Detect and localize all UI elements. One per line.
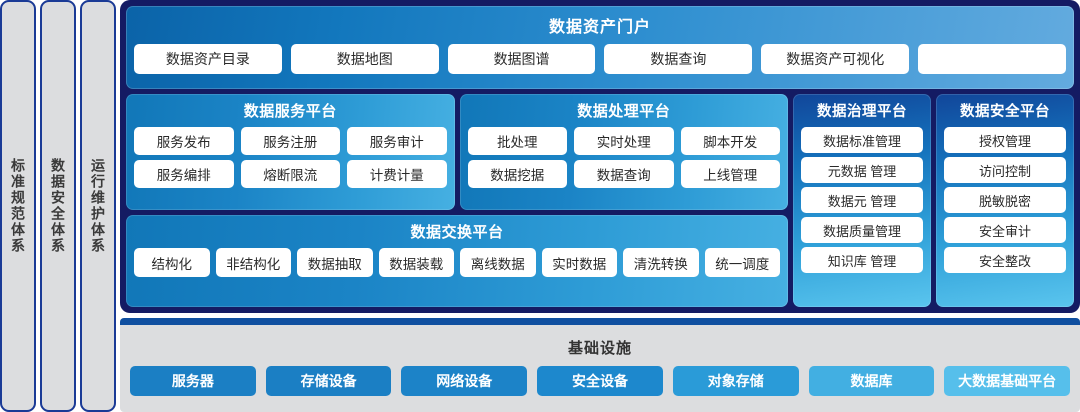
processing-item-release-mgmt[interactable]: 上线管理 (681, 160, 781, 188)
service-item-billing[interactable]: 计费计量 (347, 160, 447, 188)
side-rail-standards-label: 标准规范体系 (11, 158, 25, 254)
exchange-item-structured[interactable]: 结构化 (134, 248, 210, 277)
infra-item-network[interactable]: 网络设备 (401, 366, 527, 396)
exchange-item-realtime-data[interactable]: 实时数据 (542, 248, 618, 277)
data-processing-platform: 数据处理平台 批处理 实时处理 脚本开发 数据挖据 数据查询 上线管理 (460, 94, 789, 210)
portal-item-map[interactable]: 数据地图 (291, 44, 439, 74)
security-item-audit[interactable]: 安全审计 (944, 217, 1066, 243)
portal-title: 数据资产门户 (549, 13, 651, 37)
processing-item-batch[interactable]: 批处理 (468, 127, 568, 155)
processing-item-realtime[interactable]: 实时处理 (574, 127, 674, 155)
portal-item-query[interactable]: 数据查询 (604, 44, 752, 74)
main-column: 数据资产门户 数据资产目录 数据地图 数据图谱 数据查询 数据资产可视化 (120, 0, 1080, 412)
infra-item-database[interactable]: 数据库 (809, 366, 935, 396)
architecture-diagram: 标准规范体系 数据安全体系 运行维护体系 数据资产门户 数据资产目录 数据地图 … (0, 0, 1080, 412)
platform-frame: 数据资产门户 数据资产目录 数据地图 数据图谱 数据查询 数据资产可视化 (120, 0, 1080, 313)
exchange-item-offline-data[interactable]: 离线数据 (460, 248, 536, 277)
infrastructure-items: 服务器 存储设备 网络设备 安全设备 对象存储 数据库 大数据基础平台 (130, 366, 1070, 396)
governance-item-metadata[interactable]: 元数据 管理 (801, 157, 923, 183)
processing-item-mining[interactable]: 数据挖据 (468, 160, 568, 188)
infrastructure-title: 基础设施 (568, 337, 632, 358)
data-service-platform-items: 服务发布 服务注册 服务审计 服务编排 熔断限流 计费计量 (134, 127, 447, 188)
portal-item-empty[interactable] (918, 44, 1066, 74)
data-service-platform-title: 数据服务平台 (244, 100, 337, 121)
processing-item-script-dev[interactable]: 脚本开发 (681, 127, 781, 155)
governance-item-standards[interactable]: 数据标准管理 (801, 127, 923, 153)
governance-item-data-element[interactable]: 数据元 管理 (801, 187, 923, 213)
data-security-platform: 数据安全平台 授权管理 访问控制 脱敏脱密 安全审计 安全整改 (936, 94, 1074, 307)
governance-item-quality[interactable]: 数据质量管理 (801, 217, 923, 243)
service-item-audit[interactable]: 服务审计 (347, 127, 447, 155)
data-processing-platform-title: 数据处理平台 (577, 100, 670, 121)
infrastructure-panel: 基础设施 服务器 存储设备 网络设备 安全设备 对象存储 数据库 大数据基础平台 (120, 318, 1080, 412)
left-platform-stack: 数据服务平台 服务发布 服务注册 服务审计 服务编排 熔断限流 计费计量 (126, 94, 788, 307)
data-exchange-platform-title: 数据交换平台 (410, 221, 503, 242)
exchange-item-cleansing[interactable]: 清洗转换 (623, 248, 699, 277)
data-asset-portal: 数据资产门户 数据资产目录 数据地图 数据图谱 数据查询 数据资产可视化 (126, 6, 1074, 89)
portal-item-graph[interactable]: 数据图谱 (448, 44, 596, 74)
side-rail-standards[interactable]: 标准规范体系 (0, 0, 36, 412)
security-item-rectification[interactable]: 安全整改 (944, 247, 1066, 273)
infra-item-bigdata-platform[interactable]: 大数据基础平台 (944, 366, 1070, 396)
upper-platform-pair: 数据服务平台 服务发布 服务注册 服务审计 服务编排 熔断限流 计费计量 (126, 94, 788, 210)
security-item-access-control[interactable]: 访问控制 (944, 157, 1066, 183)
data-exchange-platform-items: 结构化 非结构化 数据抽取 数据装载 离线数据 实时数据 清洗转换 统一调度 (134, 248, 780, 277)
portal-item-visualization[interactable]: 数据资产可视化 (761, 44, 909, 74)
data-security-platform-items: 授权管理 访问控制 脱敏脱密 安全审计 安全整改 (944, 127, 1066, 273)
side-rail-data-security[interactable]: 数据安全体系 (40, 0, 76, 412)
service-item-publish[interactable]: 服务发布 (134, 127, 234, 155)
security-item-masking[interactable]: 脱敏脱密 (944, 187, 1066, 213)
infra-item-server[interactable]: 服务器 (130, 366, 256, 396)
exchange-item-load[interactable]: 数据装载 (379, 248, 455, 277)
data-governance-platform: 数据治理平台 数据标准管理 元数据 管理 数据元 管理 数据质量管理 知识库 管… (793, 94, 931, 307)
exchange-item-unstructured[interactable]: 非结构化 (216, 248, 292, 277)
portal-button-row: 数据资产目录 数据地图 数据图谱 数据查询 数据资产可视化 (134, 44, 1066, 74)
data-governance-platform-title: 数据治理平台 (817, 100, 907, 121)
service-item-circuit-breaker[interactable]: 熔断限流 (241, 160, 341, 188)
side-rail-data-security-label: 数据安全体系 (51, 158, 65, 254)
service-item-orchestration[interactable]: 服务编排 (134, 160, 234, 188)
infra-item-security-device[interactable]: 安全设备 (537, 366, 663, 396)
side-rail-operations[interactable]: 运行维护体系 (80, 0, 116, 412)
portal-item-catalog[interactable]: 数据资产目录 (134, 44, 282, 74)
data-exchange-platform: 数据交换平台 结构化 非结构化 数据抽取 数据装载 离线数据 实时数据 清洗转换… (126, 215, 788, 307)
data-security-platform-title: 数据安全平台 (960, 100, 1050, 121)
service-item-register[interactable]: 服务注册 (241, 127, 341, 155)
governance-item-knowledge-base[interactable]: 知识库 管理 (801, 247, 923, 273)
exchange-item-extract[interactable]: 数据抽取 (297, 248, 373, 277)
data-service-platform: 数据服务平台 服务发布 服务注册 服务审计 服务编排 熔断限流 计费计量 (126, 94, 455, 210)
infra-item-storage[interactable]: 存储设备 (266, 366, 392, 396)
data-governance-platform-items: 数据标准管理 元数据 管理 数据元 管理 数据质量管理 知识库 管理 (801, 127, 923, 273)
infra-item-object-storage[interactable]: 对象存储 (673, 366, 799, 396)
security-item-authorization[interactable]: 授权管理 (944, 127, 1066, 153)
processing-item-query[interactable]: 数据查询 (574, 160, 674, 188)
data-processing-platform-items: 批处理 实时处理 脚本开发 数据挖据 数据查询 上线管理 (468, 127, 781, 188)
side-rail-operations-label: 运行维护体系 (91, 158, 105, 254)
platform-row: 数据服务平台 服务发布 服务注册 服务审计 服务编排 熔断限流 计费计量 (126, 94, 1074, 307)
exchange-item-scheduling[interactable]: 统一调度 (705, 248, 781, 277)
